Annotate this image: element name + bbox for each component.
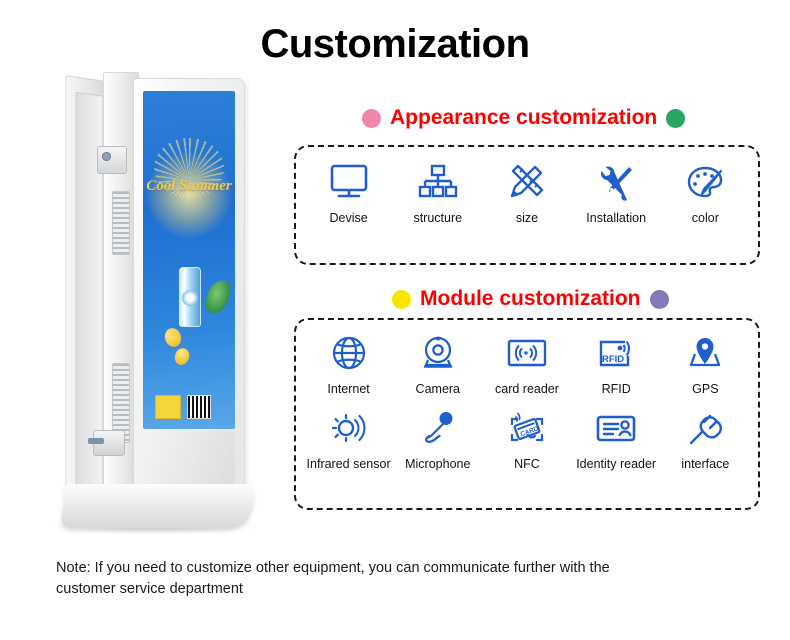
screen-leaf-graphic — [204, 278, 233, 316]
module-options-panel: Internet Camera — [294, 318, 760, 510]
option-label: Camera — [416, 382, 460, 396]
option-label: size — [516, 211, 538, 225]
option-label: card reader — [495, 382, 559, 396]
option-label: structure — [413, 211, 462, 225]
globe-icon — [327, 331, 371, 375]
option-label: Internet — [327, 382, 369, 396]
color-palette-icon — [683, 160, 727, 204]
option-devise[interactable]: Devise — [306, 160, 392, 225]
screen-badges — [155, 395, 211, 419]
option-rfid[interactable]: RFID RFID — [573, 331, 659, 396]
card-reader-icon — [505, 331, 549, 375]
module-section-heading: Module customization — [392, 287, 669, 311]
pencil-ruler-icon — [505, 160, 549, 204]
wrench-screwdriver-icon — [594, 160, 638, 204]
option-label: Installation — [586, 211, 646, 225]
option-color[interactable]: color — [662, 160, 748, 225]
option-label: RFID — [602, 382, 631, 396]
kiosk-base-stand — [61, 484, 256, 528]
rfid-text: RFID — [602, 354, 624, 365]
option-label: color — [692, 211, 719, 225]
kiosk-lock-upper — [97, 146, 127, 174]
option-card-reader[interactable]: card reader — [484, 331, 570, 396]
option-interface[interactable]: interface — [662, 406, 748, 471]
option-label: interface — [681, 457, 729, 471]
camera-icon — [416, 331, 460, 375]
option-installation[interactable]: Installation — [573, 160, 659, 225]
option-label: NFC — [514, 457, 540, 471]
screen-qr-code — [187, 395, 211, 419]
yellow-dot-icon — [392, 290, 411, 309]
rfid-icon: RFID — [594, 331, 638, 375]
screen-badge-yellow — [155, 395, 181, 419]
screen-beverage-can — [179, 267, 201, 327]
purple-dot-icon — [650, 290, 669, 309]
kiosk-display-bezel: Cool Summer — [133, 78, 245, 522]
option-nfc[interactable]: CARD NFC — [484, 406, 570, 471]
appearance-icon-row: Devise structure — [296, 147, 758, 225]
option-label: Infrared sensor — [307, 457, 391, 471]
option-camera[interactable]: Camera — [395, 331, 481, 396]
screen-ad-title: Cool Summer — [143, 179, 235, 193]
option-label: GPS — [692, 382, 718, 396]
infrared-sensor-icon — [327, 406, 371, 450]
pink-dot-icon — [362, 109, 381, 128]
monitor-icon — [327, 160, 371, 204]
screen-lemon-a — [162, 326, 183, 349]
module-heading-label: Module customization — [420, 287, 641, 311]
option-identity-reader[interactable]: Identity reader — [573, 406, 659, 471]
option-structure[interactable]: structure — [395, 160, 481, 225]
option-size[interactable]: size — [484, 160, 570, 225]
module-icon-row-2: Infrared sensor Microphone — [296, 396, 758, 471]
screen-lemon-b — [173, 346, 192, 367]
green-dot-icon — [666, 109, 685, 128]
option-microphone[interactable]: Microphone — [395, 406, 481, 471]
kiosk-lock-lower — [93, 430, 125, 456]
identity-reader-icon — [594, 406, 638, 450]
org-structure-icon — [416, 160, 460, 204]
option-label: Identity reader — [576, 457, 656, 471]
appearance-options-panel: Devise structure — [294, 145, 760, 265]
option-gps[interactable]: GPS — [662, 331, 748, 396]
kiosk-screen: Cool Summer — [143, 91, 235, 429]
plug-interface-icon — [683, 406, 727, 450]
option-infrared-sensor[interactable]: Infrared sensor — [306, 406, 392, 471]
microphone-icon — [416, 406, 460, 450]
gps-pin-icon — [683, 331, 727, 375]
kiosk-vent-top — [112, 191, 130, 255]
nfc-icon: CARD — [505, 406, 549, 450]
screen-glow — [146, 152, 232, 238]
footer-note: Note: If you need to customize other equ… — [56, 558, 616, 600]
option-internet[interactable]: Internet — [306, 331, 392, 396]
option-label: Microphone — [405, 457, 470, 471]
product-image-kiosk: Cool Summer — [45, 60, 265, 540]
option-label: Devise — [329, 211, 367, 225]
appearance-heading-label: Appearance customization — [390, 106, 657, 130]
appearance-section-heading: Appearance customization — [362, 106, 685, 130]
module-icon-row-1: Internet Camera — [296, 320, 758, 396]
